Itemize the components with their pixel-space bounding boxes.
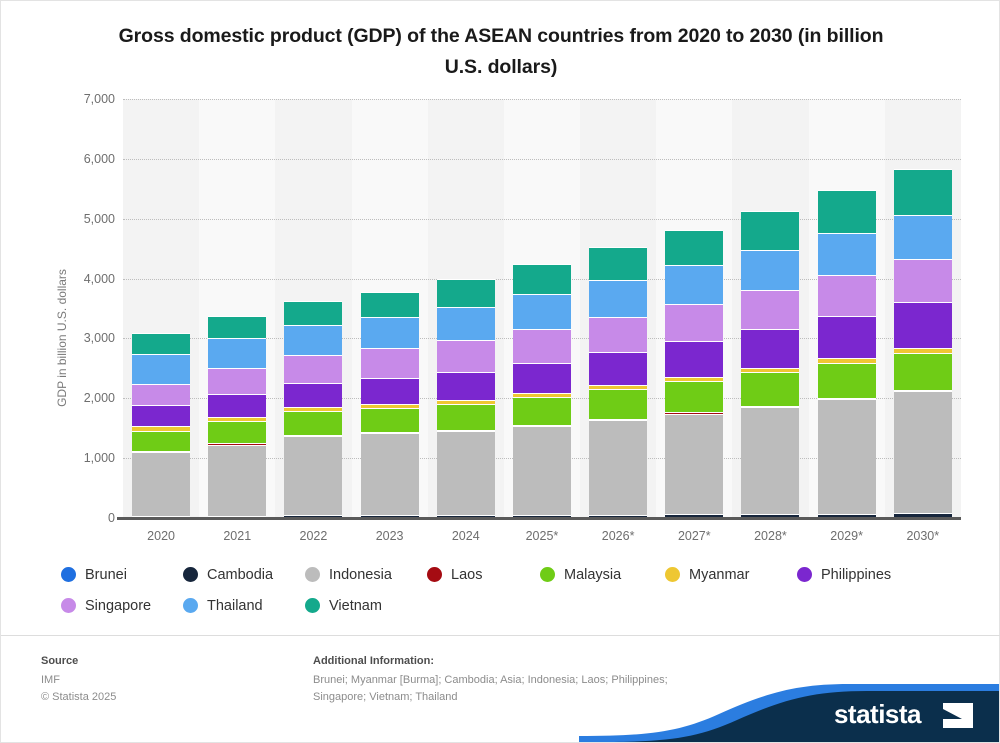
footer-copyright: © Statista 2025 bbox=[41, 689, 313, 706]
bar-slot[interactable] bbox=[580, 99, 656, 518]
legend-color-dot-icon bbox=[183, 598, 198, 613]
bar-segment[interactable] bbox=[132, 384, 190, 405]
bar-segment[interactable] bbox=[208, 421, 266, 443]
bar-segment[interactable] bbox=[589, 352, 647, 385]
bar-slot[interactable] bbox=[732, 99, 808, 518]
x-tick-label: 2026* bbox=[580, 529, 656, 543]
bar-segment[interactable] bbox=[208, 316, 266, 338]
bar-stack[interactable] bbox=[361, 292, 419, 518]
bar-segment[interactable] bbox=[513, 329, 571, 363]
y-tick-label: 6,000 bbox=[51, 152, 115, 166]
bar-segment[interactable] bbox=[741, 329, 799, 368]
bar-segment[interactable] bbox=[132, 431, 190, 451]
y-tick-label: 2,000 bbox=[51, 391, 115, 405]
footer-source-heading: Source bbox=[41, 653, 313, 670]
bar-segment[interactable] bbox=[894, 353, 952, 390]
bar-segment[interactable] bbox=[665, 414, 723, 515]
legend-color-dot-icon bbox=[797, 567, 812, 582]
y-tick-label: 7,000 bbox=[51, 92, 115, 106]
bar-segment[interactable] bbox=[208, 394, 266, 418]
bar-stack[interactable] bbox=[818, 190, 876, 518]
plot-area bbox=[123, 99, 961, 518]
legend-item-label: Malaysia bbox=[564, 567, 621, 583]
legend-item-label: Philippines bbox=[821, 567, 891, 583]
legend-item-vietnam[interactable]: Vietnam bbox=[305, 598, 435, 614]
bar-stack[interactable] bbox=[132, 333, 190, 518]
x-tick-label: 2030* bbox=[885, 529, 961, 543]
x-tick-label: 2028* bbox=[732, 529, 808, 543]
legend-item-label: Singapore bbox=[85, 598, 151, 614]
bar-segment[interactable] bbox=[132, 333, 190, 354]
bar-stack[interactable] bbox=[284, 301, 342, 518]
bar-segment[interactable] bbox=[437, 279, 495, 307]
legend-color-dot-icon bbox=[427, 567, 442, 582]
footer-info-heading: Additional Information: bbox=[313, 653, 813, 670]
bar-segment[interactable] bbox=[437, 340, 495, 372]
bar-stack[interactable] bbox=[513, 264, 571, 518]
legend-item-label: Thailand bbox=[207, 598, 263, 614]
legend-item-label: Cambodia bbox=[207, 567, 273, 583]
bar-segment[interactable] bbox=[513, 426, 571, 515]
bar-segment[interactable] bbox=[437, 404, 495, 430]
bar-segment[interactable] bbox=[589, 280, 647, 316]
bar-segment[interactable] bbox=[513, 397, 571, 425]
bar-segment[interactable] bbox=[741, 211, 799, 250]
legend-item-label: Vietnam bbox=[329, 598, 382, 614]
bar-slot[interactable] bbox=[656, 99, 732, 518]
bar-slot[interactable] bbox=[352, 99, 428, 518]
legend: BruneiCambodiaIndonesiaLaosMalaysiaMyanm… bbox=[61, 559, 961, 621]
legend-item-indonesia[interactable]: Indonesia bbox=[305, 567, 427, 583]
bar-segment[interactable] bbox=[437, 372, 495, 400]
statista-logo-banner[interactable]: statista bbox=[579, 680, 999, 742]
legend-color-dot-icon bbox=[305, 598, 320, 613]
bar-stack[interactable] bbox=[437, 279, 495, 518]
footer-source-line: IMF bbox=[41, 672, 313, 689]
bar-segment[interactable] bbox=[513, 264, 571, 294]
bar-segment[interactable] bbox=[208, 338, 266, 368]
statista-logo-mark-icon bbox=[943, 703, 973, 728]
bar-segment[interactable] bbox=[361, 348, 419, 378]
bar-segment[interactable] bbox=[741, 372, 799, 405]
y-tick-label: 4,000 bbox=[51, 272, 115, 286]
bar-segment[interactable] bbox=[208, 368, 266, 393]
bar-segment[interactable] bbox=[513, 294, 571, 328]
bar-segment[interactable] bbox=[361, 408, 419, 432]
bar-segment[interactable] bbox=[741, 250, 799, 290]
bar-segment[interactable] bbox=[589, 389, 647, 419]
legend-item-label: Brunei bbox=[85, 567, 127, 583]
bar-segment[interactable] bbox=[894, 215, 952, 260]
bar-segment[interactable] bbox=[818, 399, 876, 513]
legend-item-label: Indonesia bbox=[329, 567, 392, 583]
legend-item-philippines[interactable]: Philippines bbox=[797, 567, 927, 583]
bar-segment[interactable] bbox=[589, 317, 647, 352]
bar-segment[interactable] bbox=[361, 317, 419, 348]
footer-divider bbox=[1, 635, 1000, 636]
logo-wave-shape bbox=[579, 680, 999, 742]
bar-segment[interactable] bbox=[361, 433, 419, 515]
legend-item-malaysia[interactable]: Malaysia bbox=[540, 567, 665, 583]
bar-segment[interactable] bbox=[665, 341, 723, 377]
legend-color-dot-icon bbox=[61, 567, 76, 582]
bar-slot[interactable] bbox=[885, 99, 961, 518]
bar-slot[interactable] bbox=[123, 99, 199, 518]
bar-slot[interactable] bbox=[199, 99, 275, 518]
legend-item-label: Myanmar bbox=[689, 567, 749, 583]
bar-segment[interactable] bbox=[513, 363, 571, 393]
bar-segment[interactable] bbox=[284, 301, 342, 325]
legend-color-dot-icon bbox=[61, 598, 76, 613]
legend-item-brunei[interactable]: Brunei bbox=[61, 567, 183, 583]
bar-segment[interactable] bbox=[132, 452, 190, 515]
x-tick-label: 2025* bbox=[504, 529, 580, 543]
bar-segment[interactable] bbox=[894, 259, 952, 302]
statista-chart-page: Gross domestic product (GDP) of the ASEA… bbox=[0, 0, 1000, 743]
bar-segment[interactable] bbox=[284, 383, 342, 407]
bar-slot[interactable] bbox=[275, 99, 351, 518]
legend-item-cambodia[interactable]: Cambodia bbox=[183, 567, 305, 583]
x-tick-label: 2021 bbox=[199, 529, 275, 543]
legend-item-singapore[interactable]: Singapore bbox=[61, 598, 183, 614]
bar-segment[interactable] bbox=[589, 420, 647, 515]
y-tick-label: 5,000 bbox=[51, 212, 115, 226]
bar-segment[interactable] bbox=[284, 436, 342, 515]
x-tick-label: 2022 bbox=[275, 529, 351, 543]
chart-title: Gross domestic product (GDP) of the ASEA… bbox=[101, 21, 901, 83]
bar-segment[interactable] bbox=[818, 316, 876, 358]
x-tick-label: 2029* bbox=[809, 529, 885, 543]
bar-stack[interactable] bbox=[589, 247, 647, 518]
bar-stack[interactable] bbox=[208, 316, 266, 518]
legend-color-dot-icon bbox=[665, 567, 680, 582]
bar-segment[interactable] bbox=[741, 407, 799, 514]
x-tick-label: 2024 bbox=[428, 529, 504, 543]
statista-wordmark: statista bbox=[834, 699, 921, 730]
bar-segment[interactable] bbox=[818, 275, 876, 316]
bar-segment[interactable] bbox=[284, 325, 342, 355]
bar-segment[interactable] bbox=[665, 304, 723, 341]
legend-row-1: BruneiCambodiaIndonesiaLaosMalaysiaMyanm… bbox=[61, 559, 961, 590]
legend-item-myanmar[interactable]: Myanmar bbox=[665, 567, 797, 583]
bar-segment[interactable] bbox=[818, 233, 876, 275]
y-tick-label: 0 bbox=[51, 511, 115, 525]
bar-segment[interactable] bbox=[818, 363, 876, 398]
bar-slot[interactable] bbox=[428, 99, 504, 518]
bar-segment[interactable] bbox=[665, 230, 723, 266]
bar-stack[interactable] bbox=[665, 230, 723, 518]
bar-segment[interactable] bbox=[284, 411, 342, 435]
legend-color-dot-icon bbox=[183, 567, 198, 582]
legend-item-thailand[interactable]: Thailand bbox=[183, 598, 305, 614]
bar-segment[interactable] bbox=[361, 292, 419, 318]
bar-segment[interactable] bbox=[132, 354, 190, 384]
x-axis-labels: 202020212022202320242025*2026*2027*2028*… bbox=[123, 529, 961, 543]
bar-segment[interactable] bbox=[894, 391, 952, 513]
bar-segment[interactable] bbox=[208, 445, 266, 516]
y-axis: GDP in billion U.S. dollars 01,0002,0003… bbox=[37, 99, 115, 518]
footer-source: Source IMF © Statista 2025 bbox=[41, 653, 313, 706]
bar-segment[interactable] bbox=[665, 265, 723, 303]
bar-slot[interactable] bbox=[809, 99, 885, 518]
bar-slot[interactable] bbox=[504, 99, 580, 518]
legend-row-2: SingaporeThailandVietnam bbox=[61, 590, 961, 621]
x-tick-label: 2027* bbox=[656, 529, 732, 543]
bar-segment[interactable] bbox=[741, 290, 799, 329]
bar-segment[interactable] bbox=[818, 190, 876, 232]
bar-segment[interactable] bbox=[132, 405, 190, 427]
legend-color-dot-icon bbox=[305, 567, 320, 582]
bar-segment[interactable] bbox=[894, 302, 952, 347]
bar-segment[interactable] bbox=[361, 378, 419, 404]
x-tick-label: 2020 bbox=[123, 529, 199, 543]
bar-segment[interactable] bbox=[437, 307, 495, 340]
x-tick-label: 2023 bbox=[352, 529, 428, 543]
bar-segment[interactable] bbox=[665, 381, 723, 412]
y-tick-label: 1,000 bbox=[51, 451, 115, 465]
bar-stack[interactable] bbox=[894, 169, 952, 518]
y-tick-label: 3,000 bbox=[51, 331, 115, 345]
legend-color-dot-icon bbox=[540, 567, 555, 582]
bar-segment[interactable] bbox=[437, 431, 495, 515]
bars-layer bbox=[123, 99, 961, 518]
bar-segment[interactable] bbox=[589, 247, 647, 280]
legend-item-label: Laos bbox=[451, 567, 482, 583]
legend-item-laos[interactable]: Laos bbox=[427, 567, 540, 583]
bar-stack[interactable] bbox=[741, 211, 799, 518]
bar-segment[interactable] bbox=[894, 169, 952, 215]
x-axis-baseline bbox=[117, 517, 961, 520]
bar-segment[interactable] bbox=[284, 355, 342, 383]
